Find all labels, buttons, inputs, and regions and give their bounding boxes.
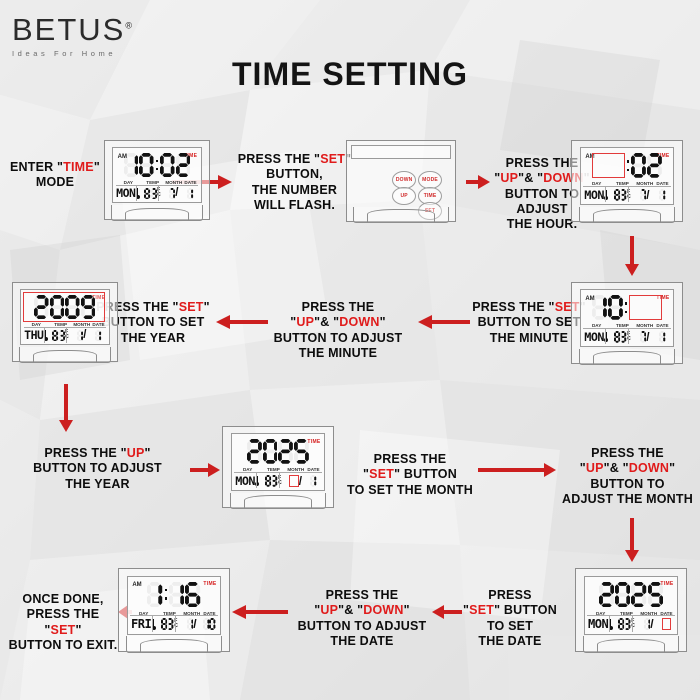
value-date — [654, 187, 670, 202]
value-date — [201, 616, 217, 631]
value-month: / — [286, 473, 305, 488]
seven-segment-digit — [169, 582, 184, 607]
lcd-field-values: MON FC / — [234, 472, 321, 488]
lcd-field-values: MON FC / — [583, 328, 670, 344]
lcd-screen: AM TIME DAY TEMP MONTH DATE MON — [580, 147, 675, 205]
lcd-divider-2 — [256, 473, 257, 488]
value-date — [91, 328, 106, 343]
arrow-down-3 — [624, 518, 640, 562]
date-slash: / — [83, 329, 86, 341]
seven-segment-digit — [294, 439, 309, 464]
lcd-bottom-row: DAY TEMP MONTH DATE MON FC — [587, 610, 674, 632]
lcd-field-values: MON FC / — [583, 186, 670, 202]
clock-back-panel: DOWNMODEUPTIMESET — [346, 140, 456, 222]
seven-segment-digit — [263, 439, 278, 464]
seven-segment-digit — [34, 295, 49, 319]
clock-stand — [583, 636, 680, 652]
value-temp: FC — [261, 473, 286, 488]
step-text-adjust-date: PRESS THE"UP"& "DOWN"BUTTON TO ADJUSTTHE… — [287, 588, 437, 649]
page-title: TIME SETTING — [0, 56, 700, 93]
arrow-left-4 — [232, 604, 288, 620]
lcd-divider-1 — [175, 616, 176, 631]
date-slash: / — [650, 617, 653, 631]
lcd-weekday-text: THU — [24, 328, 43, 342]
clock-display-6: TIME DAY TEMP MONTH DATE MON — [575, 568, 687, 652]
value-day: MON — [116, 186, 141, 201]
arrow-right-4 — [478, 462, 556, 478]
date-slash: / — [175, 187, 178, 199]
lcd-bottom-row: DAY TEMP MONTH DATE FRI FC — [130, 610, 217, 632]
clock-display-4: TIME DAY TEMP MONTH DATE THU — [12, 282, 118, 362]
seven-segment-digit — [631, 153, 646, 178]
lcd-divider-1 — [632, 616, 633, 631]
lcd-divider-2 — [136, 186, 137, 201]
value-temp: FC — [141, 186, 165, 201]
lcd-main-time — [232, 438, 325, 466]
lcd-screen: AM TIME DAY TEMP MONTH DATE FRI — [127, 576, 222, 635]
seven-segment-digit — [615, 582, 630, 607]
arrow-down-1 — [624, 236, 640, 276]
registered-mark: ® — [125, 21, 134, 31]
lcd-field-values: THU FC / — [24, 327, 106, 343]
clock-display-7: AM TIME DAY TEMP MONTH DATE FRI — [118, 568, 230, 652]
seven-segment-digit — [648, 582, 663, 607]
value-month: / — [73, 328, 91, 343]
lcd-bottom-row: DAY TEMP MONTH DATE MON FC — [583, 323, 670, 344]
value-date — [658, 616, 674, 631]
value-day: MON — [583, 187, 609, 202]
lcd-main-time — [581, 152, 674, 180]
lcd-weekday-text: FRI — [131, 617, 151, 631]
lcd-screen: TIME DAY TEMP MONTH DATE MON — [584, 576, 679, 635]
seven-segment-digit — [185, 582, 200, 607]
lcd-main-time — [128, 580, 221, 609]
back-panel-top-strip — [351, 145, 450, 159]
seven-segment-digit — [65, 295, 80, 319]
lcd-divider-1 — [628, 187, 629, 202]
seven-segment-digit — [139, 153, 154, 177]
date-slash: / — [193, 617, 196, 631]
seven-segment-digit — [659, 331, 665, 343]
lcd-screen: AM TIME DAY TEMP MONTH DATE MON — [112, 147, 201, 203]
date-slash: / — [299, 474, 302, 488]
value-month: / — [182, 616, 201, 631]
lcd-divider-2 — [152, 616, 153, 631]
lcd-divider-2 — [609, 616, 610, 631]
lcd-weekday-text: MON — [584, 188, 604, 202]
seven-segment-digit — [624, 618, 630, 630]
value-month: / — [165, 186, 183, 201]
seven-segment-digit — [160, 153, 175, 177]
seven-segment-digit — [209, 618, 215, 630]
value-temp: FC — [614, 616, 639, 631]
value-month: / — [639, 616, 658, 631]
lcd-main-time — [21, 293, 108, 320]
brand-name: BETUS® — [12, 14, 134, 45]
lcd-bottom-row: DAY TEMP MONTH DATE MON FC — [234, 467, 321, 488]
lcd-divider-1 — [628, 329, 629, 344]
colon-separator — [155, 151, 159, 178]
lcd-bottom-row: DAY TEMP MONTH DATE MON FC — [583, 181, 670, 202]
lcd-weekday-text: MON — [235, 474, 255, 488]
colon-separator — [164, 580, 169, 609]
lcd-field-values: FRI FC / — [130, 615, 217, 631]
seven-segment-digit — [608, 295, 623, 320]
seven-segment-digit — [247, 439, 262, 464]
step-text-set-date: PRESS"SET" BUTTONTO SETTHE DATE — [455, 588, 565, 649]
lcd-weekday-text: MON — [588, 617, 608, 631]
lcd-bottom-row: DAY TEMP MONTH DATE THU FC — [24, 322, 106, 343]
flashing-date-box — [662, 618, 671, 631]
seven-segment-digit — [167, 618, 173, 630]
seven-segment-digit — [59, 330, 65, 342]
lcd-divider-2 — [605, 329, 606, 344]
seven-segment-digit — [310, 475, 316, 487]
clock-stand — [230, 493, 327, 509]
value-date — [654, 329, 670, 344]
value-day: MON — [234, 473, 260, 488]
seven-segment-digit — [151, 188, 157, 200]
lcd-main-time — [113, 151, 200, 178]
flashing-hour-box — [592, 153, 625, 178]
lcd-divider-1 — [66, 328, 67, 343]
date-slash: / — [646, 330, 649, 344]
lcd-main-time — [581, 294, 674, 322]
clock-display-1: AM TIME DAY TEMP MONTH DATE MON — [104, 140, 210, 220]
lcd-field-values: MON FC / — [587, 615, 674, 631]
seven-segment-digit — [147, 582, 162, 607]
seven-segment-digit — [271, 475, 277, 487]
arrow-right-2 — [466, 174, 490, 190]
value-date — [183, 186, 198, 201]
value-day: FRI — [130, 616, 156, 631]
lcd-weekday-text: MON — [116, 186, 135, 200]
clock-display-3: AM TIME DAY TEMP MONTH DATE MON — [571, 282, 683, 364]
step-text-adjust-year: PRESS THE "UP"BUTTON TO ADJUSTTHE YEAR — [5, 446, 190, 492]
value-day: THU — [24, 328, 49, 343]
clock-stand — [353, 207, 448, 223]
value-date — [305, 473, 321, 488]
arrow-down-2 — [58, 384, 74, 432]
clock-stand — [579, 207, 676, 223]
brand-logo: BETUS® Ideas For Home — [12, 14, 134, 58]
value-temp: FC — [610, 187, 635, 202]
seven-segment-digit — [631, 582, 646, 607]
seven-segment-digit — [187, 188, 193, 200]
arrow-left-2 — [216, 314, 268, 330]
seven-segment-digit — [176, 153, 191, 177]
arrow-left-1 — [418, 314, 470, 330]
lcd-divider-2 — [44, 328, 45, 343]
clock-stand — [579, 349, 676, 365]
flashing-month-box — [289, 475, 298, 487]
lcd-screen: TIME DAY TEMP MONTH DATE THU — [20, 289, 109, 345]
step-text-adjust-minute: PRESS THE"UP"& "DOWN"BUTTON TO ADJUSTTHE… — [268, 300, 408, 361]
clock-stand — [111, 205, 203, 221]
lcd-divider-1 — [158, 186, 159, 201]
seven-segment-digit — [81, 295, 96, 319]
seven-segment-digit — [659, 189, 665, 201]
step-text-press-set-flash: PRESS THE "SET"BUTTON,THE NUMBERWILL FLA… — [237, 152, 352, 213]
seven-segment-digit — [278, 439, 293, 464]
seven-segment-digit — [50, 295, 65, 319]
seven-segment-digit — [124, 153, 139, 177]
step-text-set-month: PRESS THE"SET" BUTTONTO SET THE MONTH — [345, 452, 475, 498]
lcd-screen: AM TIME DAY TEMP MONTH DATE MON — [580, 289, 675, 347]
seven-segment-digit — [592, 295, 607, 320]
value-day: MON — [583, 329, 609, 344]
seven-segment-digit — [620, 189, 626, 201]
step-text-enter-time-mode: ENTER "TIME"MODE — [0, 160, 110, 191]
clock-display-2: AM TIME DAY TEMP MONTH DATE MON — [571, 140, 683, 222]
value-month: / — [635, 329, 654, 344]
lcd-divider-1 — [279, 473, 280, 488]
value-day: MON — [587, 616, 613, 631]
colon-separator — [626, 152, 631, 180]
arrow-left-3 — [432, 604, 462, 620]
clock-stand — [19, 347, 111, 363]
lcd-weekday-text: MON — [584, 330, 604, 344]
clock-display-5: TIME DAY TEMP MONTH DATE MON — [222, 426, 334, 508]
step-text-adjust-month: PRESS THE"UP"& "DOWN"BUTTON TOADJUST THE… — [560, 446, 695, 507]
seven-segment-digit — [599, 582, 614, 607]
brand-name-text: BETUS — [12, 12, 125, 47]
lcd-divider-2 — [605, 187, 606, 202]
value-month: / — [635, 187, 654, 202]
seven-segment-digit — [95, 330, 101, 342]
value-temp: FC — [157, 616, 182, 631]
value-temp: FC — [49, 328, 73, 343]
lcd-screen: TIME DAY TEMP MONTH DATE MON — [231, 433, 326, 491]
flashing-minute-box — [629, 295, 662, 320]
value-temp: FC — [610, 329, 635, 344]
date-slash: / — [646, 188, 649, 202]
lcd-main-time — [585, 580, 678, 609]
clock-stand — [126, 636, 223, 652]
lcd-field-values: MON FC / — [116, 185, 198, 201]
up-button[interactable]: UP — [392, 187, 416, 205]
seven-segment-digit — [647, 153, 662, 178]
step-text-exit: ONCE DONE,PRESS THE "SET"BUTTON TO EXIT. — [8, 592, 118, 653]
colon-separator — [624, 294, 629, 322]
seven-segment-digit — [620, 331, 626, 343]
arrow-right-3 — [190, 462, 220, 478]
lcd-bottom-row: DAY TEMP MONTH DATE MON FC — [116, 180, 198, 201]
